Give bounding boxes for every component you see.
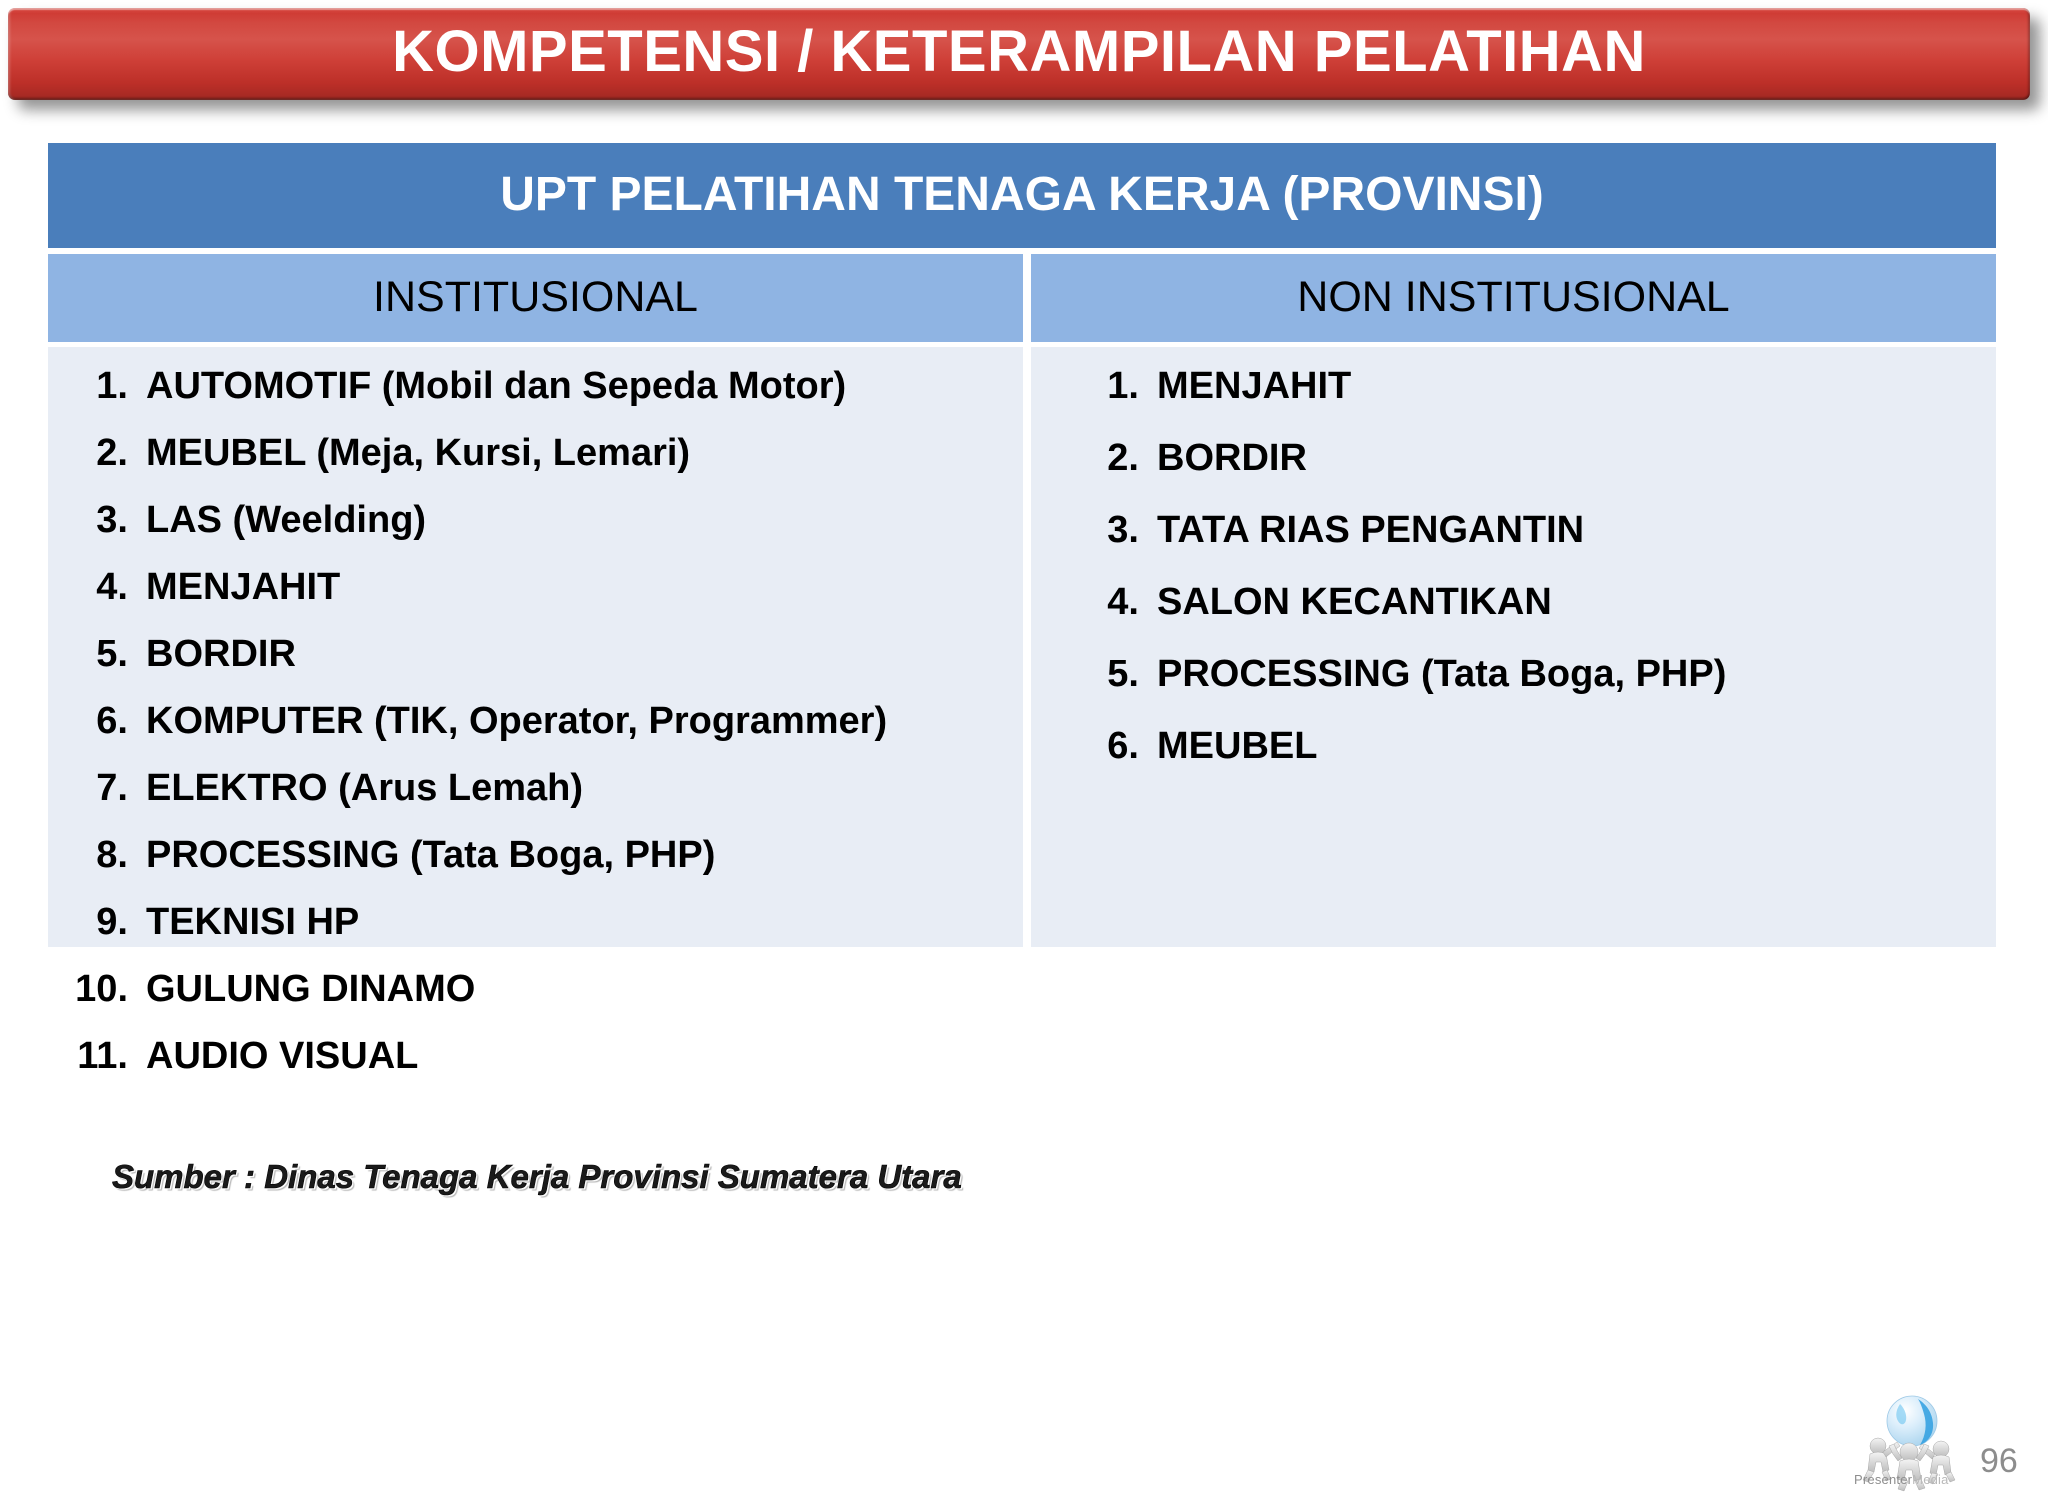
list-item-label: MEUBEL — [1157, 725, 1317, 768]
list-item-number: 8. — [56, 834, 128, 877]
list-item-number: 6. — [56, 700, 128, 743]
list-item-number: 10. — [56, 968, 128, 1011]
list-item-number: 5. — [1067, 653, 1139, 696]
list-item-label: SALON KECANTIKAN — [1157, 581, 1552, 624]
list-item-label: MENJAHIT — [1157, 365, 1351, 408]
table-subtitle: UPT PELATIHAN TENAGA KERJA (PROVINSI) — [500, 171, 1544, 219]
logo-caption-light: Media — [1912, 1472, 1948, 1487]
list-item: 6. KOMPUTER (TIK, Operator, Programmer) — [48, 700, 1023, 767]
list-item: 2. MEUBEL (Meja, Kursi, Lemari) — [48, 432, 1023, 499]
list-item-label: AUDIO VISUAL — [146, 1035, 418, 1078]
table-body-row: 1. AUTOMOTIF (Mobil dan Sepeda Motor) 2.… — [48, 347, 1996, 947]
list-item-label: ELEKTRO (Arus Lemah) — [146, 767, 583, 810]
list-item-label: MENJAHIT — [146, 566, 340, 609]
list-item-number: 4. — [56, 566, 128, 609]
list-item: 1. MENJAHIT — [1031, 365, 1996, 437]
table-subtitle-band: UPT PELATIHAN TENAGA KERJA (PROVINSI) — [48, 143, 1996, 248]
list-item-number: 5. — [56, 633, 128, 676]
list-item: 6. MEUBEL — [1031, 725, 1996, 797]
source-note: Sumber : Dinas Tenaga Kerja Provinsi Sum… — [112, 1158, 962, 1196]
list-item-label: PROCESSING (Tata Boga, PHP) — [146, 834, 715, 877]
list-item-label: LAS (Weelding) — [146, 499, 426, 542]
list-item-label: BORDIR — [1157, 437, 1307, 480]
non-institusional-list: 1. MENJAHIT 2. BORDIR 3. TATA RIAS PENGA… — [1031, 365, 1996, 797]
list-item-label: TATA RIAS PENGANTIN — [1157, 509, 1584, 552]
column-body-non-institusional: 1. MENJAHIT 2. BORDIR 3. TATA RIAS PENGA… — [1031, 347, 1996, 947]
list-item: 4. SALON KECANTIKAN — [1031, 581, 1996, 653]
column-header-label: NON INSTITUSIONAL — [1297, 276, 1729, 319]
list-item: 2. BORDIR — [1031, 437, 1996, 509]
list-item-number: 6. — [1067, 725, 1139, 768]
list-item-label: PROCESSING (Tata Boga, PHP) — [1157, 653, 1726, 696]
list-item-label: GULUNG DINAMO — [146, 968, 475, 1011]
list-item-label: BORDIR — [146, 633, 296, 676]
institusional-list: 1. AUTOMOTIF (Mobil dan Sepeda Motor) 2.… — [48, 365, 1023, 1102]
list-item: 3. LAS (Weelding) — [48, 499, 1023, 566]
list-item-number: 3. — [56, 499, 128, 542]
list-item: 11. AUDIO VISUAL — [48, 1035, 1023, 1102]
list-item-number: 1. — [1067, 365, 1139, 408]
column-body-institusional: 1. AUTOMOTIF (Mobil dan Sepeda Motor) 2.… — [48, 347, 1023, 947]
page-number: 96 — [1980, 1444, 2018, 1478]
list-item: 10. GULUNG DINAMO — [48, 968, 1023, 1035]
list-item-number: 2. — [1067, 437, 1139, 480]
list-item-label: MEUBEL (Meja, Kursi, Lemari) — [146, 432, 690, 475]
list-item-number: 11. — [56, 1035, 128, 1078]
list-item: 4. MENJAHIT — [48, 566, 1023, 633]
list-item: 7. ELEKTRO (Arus Lemah) — [48, 767, 1023, 834]
list-item: 8. PROCESSING (Tata Boga, PHP) — [48, 834, 1023, 901]
list-item-label: TEKNISI HP — [146, 901, 359, 944]
list-item-number: 1. — [56, 365, 128, 408]
list-item: 1. AUTOMOTIF (Mobil dan Sepeda Motor) — [48, 365, 1023, 432]
list-item-number: 7. — [56, 767, 128, 810]
list-item: 9. TEKNISI HP — [48, 901, 1023, 968]
list-item-label: KOMPUTER (TIK, Operator, Programmer) — [146, 700, 887, 743]
list-item: 3. TATA RIAS PENGANTIN — [1031, 509, 1996, 581]
list-item-number: 4. — [1067, 581, 1139, 624]
list-item: 5. BORDIR — [48, 633, 1023, 700]
slide-title: KOMPETENSI / KETERAMPILAN PELATIHAN — [392, 23, 1646, 81]
list-item-number: 2. — [56, 432, 128, 475]
logo-caption-bold: Presenter — [1854, 1472, 1912, 1487]
slide-title-banner: KOMPETENSI / KETERAMPILAN PELATIHAN — [8, 8, 2030, 100]
list-item-number: 3. — [1067, 509, 1139, 552]
competency-table: UPT PELATIHAN TENAGA KERJA (PROVINSI) IN… — [48, 143, 1996, 947]
column-header-institusional: INSTITUSIONAL — [48, 254, 1023, 342]
list-item-number: 9. — [56, 901, 128, 944]
presenter-media-caption: PresenterMedia — [1854, 1472, 1949, 1487]
list-item: 5. PROCESSING (Tata Boga, PHP) — [1031, 653, 1996, 725]
list-item-label: AUTOMOTIF (Mobil dan Sepeda Motor) — [146, 365, 846, 408]
table-header-row: INSTITUSIONAL NON INSTITUSIONAL — [48, 254, 1996, 342]
column-header-non-institusional: NON INSTITUSIONAL — [1031, 254, 1996, 342]
column-header-label: INSTITUSIONAL — [373, 276, 698, 319]
